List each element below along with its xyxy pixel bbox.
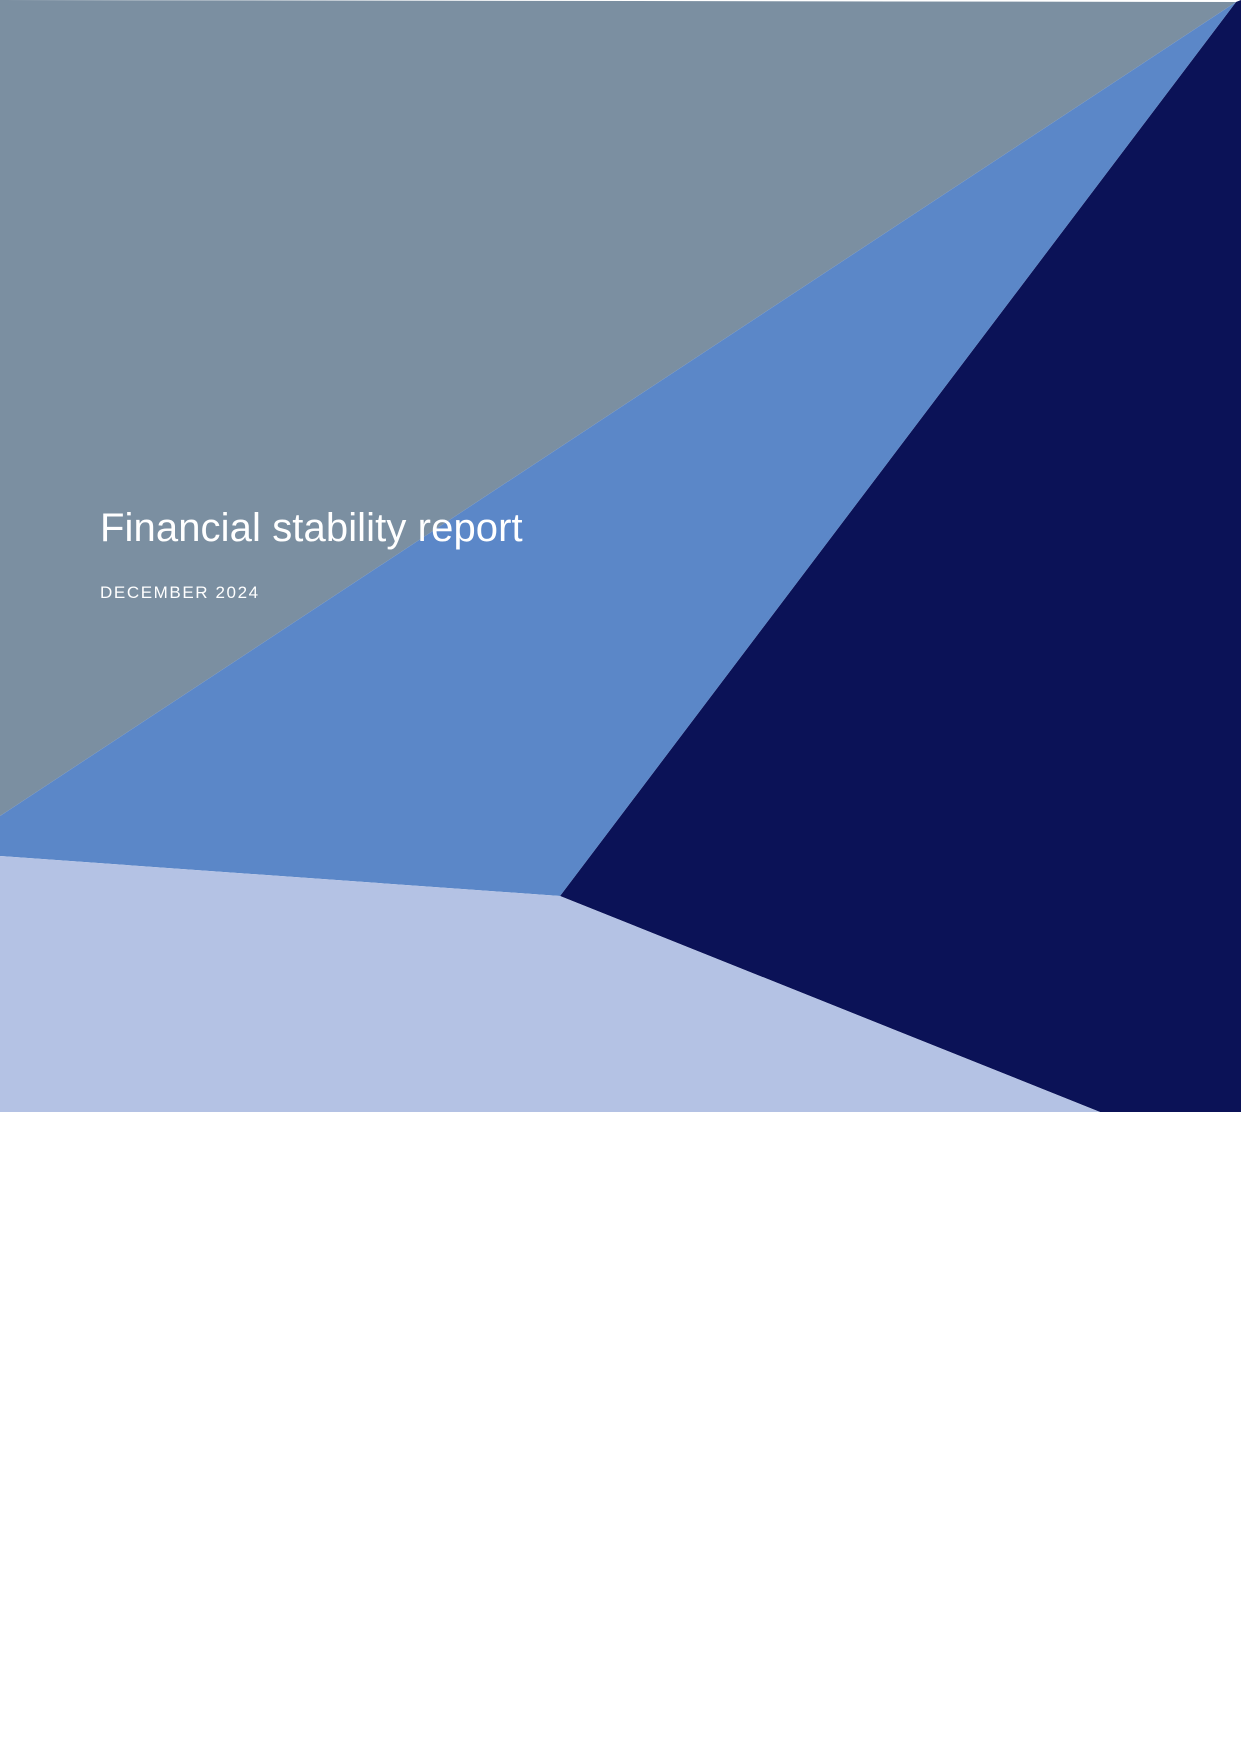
page-title: Financial stability report	[100, 505, 860, 551]
title-block: Financial stability report DECEMBER 2024	[100, 505, 860, 603]
cover-page: Financial stability report DECEMBER 2024	[0, 0, 1241, 1754]
report-date: DECEMBER 2024	[100, 551, 860, 603]
page-body-blank-area	[0, 1112, 1241, 1754]
